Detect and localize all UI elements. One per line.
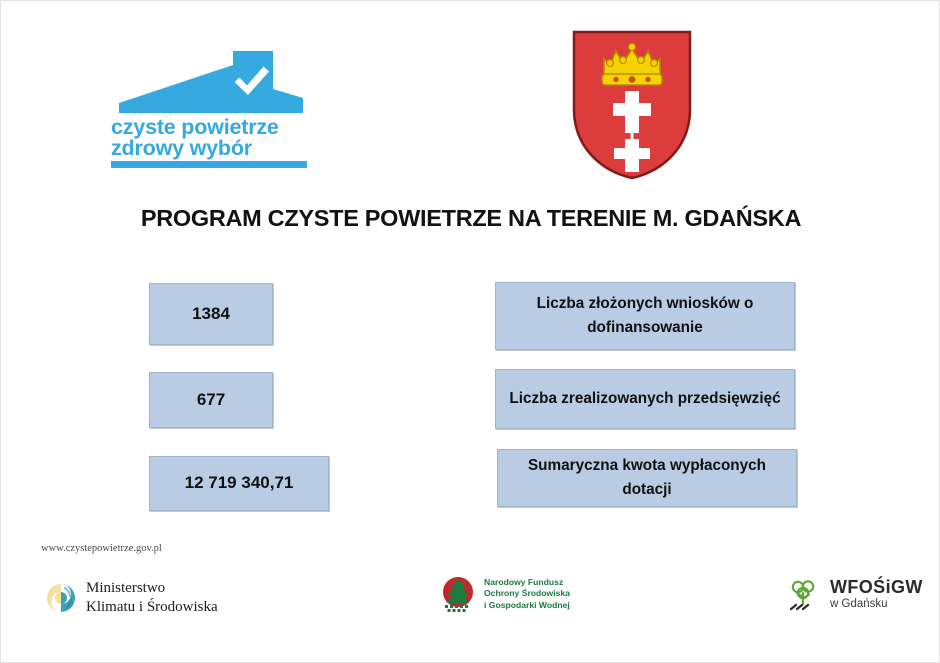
nfos-text-block: Narodowy Fundusz Ochrony Środowiska i Go… <box>484 577 570 612</box>
mkis-line1: Ministerstwo <box>86 579 218 598</box>
stat-label-box-1: Liczba zrealizowanych przedsięwzięć <box>495 369 795 429</box>
stat-label-box-2: Sumaryczna kwota wypłaconych dotacji <box>497 449 797 507</box>
stat-value-box-1: 677 <box>149 372 273 428</box>
swirl-icon <box>45 582 77 614</box>
czyste-powietrze-logo: czyste powietrze zdrowy wybór <box>105 51 317 169</box>
nfos-line2: Ochrony Środowiska <box>484 588 570 600</box>
wfos-text-block: WFOŚiGW w Gdańsku <box>830 578 923 612</box>
wfos-line1: WFOŚiGW <box>830 578 923 597</box>
stat-label-box-0: Liczba złożonych wniosków o dofinansowan… <box>495 282 795 350</box>
nfos-line3: i Gospodarki Wodnej <box>484 600 570 612</box>
czyste-powietrze-wordmark-line2: zdrowy wybór <box>111 136 253 160</box>
ministerstwo-klimatu-i-srodowiska-logo: Ministerstwo Klimatu i Środowiska <box>45 579 218 616</box>
green-tree-outline-icon <box>786 577 822 613</box>
nfos-line1: Narodowy Fundusz <box>484 577 570 589</box>
mkis-text-block: Ministerstwo Klimatu i Środowiska <box>86 579 218 616</box>
wfos-line2: w Gdańsku <box>830 598 923 612</box>
house-roof-with-checkmark-icon: czyste powietrze zdrowy wybór <box>105 51 317 169</box>
red-circle-green-tree-icon <box>439 575 477 613</box>
stat-value-box-2: 12 719 340,71 <box>149 456 329 511</box>
page-title: PROGRAM CZYSTE POWIETRZE NA TERENIE M. G… <box>71 205 871 232</box>
wfosigw-w-gdansku-logo: WFOŚiGW w Gdańsku <box>786 577 923 613</box>
narodowy-fundusz-ochrony-srodowiska-logo: Narodowy Fundusz Ochrony Środowiska i Go… <box>439 575 570 613</box>
mkis-line2: Klimatu i Środowiska <box>86 598 218 617</box>
website-url[interactable]: www.czystepowietrze.gov.pl <box>41 543 162 554</box>
slide-canvas: czyste powietrze zdrowy wybór <box>0 0 940 663</box>
cross-connector <box>631 132 634 140</box>
stat-value-box-0: 1384 <box>149 283 273 345</box>
gdansk-coat-of-arms <box>571 29 693 181</box>
